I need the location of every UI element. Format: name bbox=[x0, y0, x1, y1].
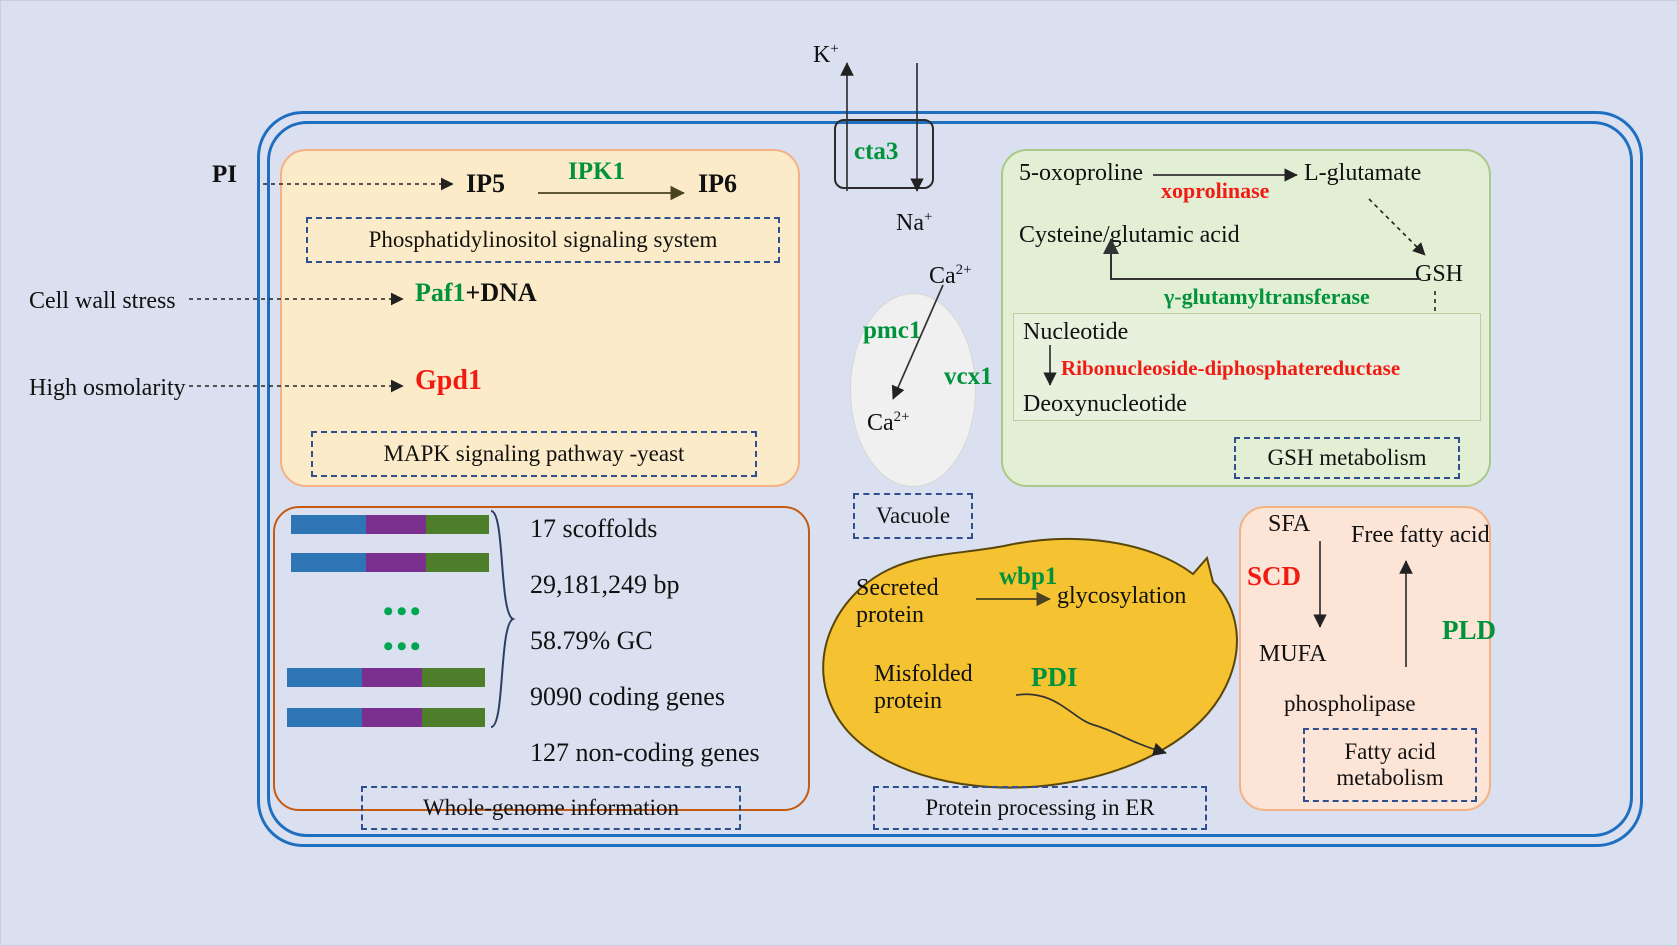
er-secreted-protein-label: Secreted protein bbox=[856, 575, 939, 630]
genome-brace bbox=[489, 509, 519, 731]
metabolite-ip6: IP6 bbox=[698, 169, 737, 199]
enzyme-ipk1: IPK1 bbox=[568, 158, 625, 186]
gene-gpd1: Gpd1 bbox=[415, 365, 482, 397]
target-paf1-dna: Paf1+DNA bbox=[415, 278, 537, 308]
caption-phosphatidylinositol-signaling: Phosphatidylinositol signaling system bbox=[306, 217, 780, 263]
ion-label-sodium: Na+ bbox=[896, 209, 932, 237]
gene-wbp1: wbp1 bbox=[999, 563, 1057, 591]
secreted-protein-line2: protein bbox=[856, 602, 924, 628]
nucleotide-reduction-arrow bbox=[1041, 345, 1061, 397]
ipk1-reaction-arrow bbox=[538, 187, 698, 203]
metabolite-nucleotide: Nucleotide bbox=[1023, 319, 1128, 346]
metabolite-phospholipase: phospholipase bbox=[1284, 691, 1416, 717]
calcium-inside-symbol: Ca bbox=[867, 410, 894, 436]
scd-reaction-arrow bbox=[1313, 541, 1329, 641]
metabolite-ip5: IP5 bbox=[466, 169, 505, 199]
enzyme-ribonucleoside-reductase: Ribonucleoside-diphosphatereductase bbox=[1061, 356, 1400, 381]
chromosome-bar-4 bbox=[287, 708, 485, 727]
genome-stat-scaffolds: 17 scoffolds bbox=[530, 514, 657, 544]
fatty-acid-caption-line1: Fatty acid bbox=[1344, 739, 1435, 765]
caption-vacuole: Vacuole bbox=[853, 493, 973, 539]
caption-mapk-signaling: MAPK signaling pathway -yeast bbox=[311, 431, 757, 477]
figure-canvas: K+ Na+ cta3 PI Cell wall stress High osm… bbox=[0, 0, 1678, 946]
caption-whole-genome-information: Whole-genome information bbox=[361, 786, 741, 830]
calcium-inside-charge: 2+ bbox=[894, 409, 910, 425]
gene-paf1: Paf1 bbox=[415, 278, 466, 307]
calcium-outside-charge: 2+ bbox=[956, 262, 972, 278]
metabolite-sfa: SFA bbox=[1268, 511, 1310, 538]
metabolite-mufa: MUFA bbox=[1259, 641, 1327, 668]
sodium-symbol: Na bbox=[896, 210, 924, 236]
calcium-inside-label: Ca2+ bbox=[867, 409, 910, 437]
chromosome-bar-2 bbox=[291, 553, 489, 572]
chromosome-ellipsis-2: ••• bbox=[383, 632, 424, 662]
misfolded-protein-line1: Misfolded bbox=[874, 661, 973, 687]
genome-stat-basepairs: 29,181,249 bp bbox=[530, 570, 680, 600]
potassium-charge: + bbox=[830, 41, 838, 57]
gene-pdi: PDI bbox=[1031, 662, 1078, 693]
genome-stat-noncoding-genes: 127 non-coding genes bbox=[530, 738, 760, 768]
metabolite-free-fatty-acid: Free fatty acid bbox=[1351, 522, 1490, 549]
ion-label-potassium: K+ bbox=[813, 41, 839, 69]
paf1-dna-suffix: +DNA bbox=[466, 278, 537, 307]
fatty-acid-caption-line2: metabolism bbox=[1336, 765, 1443, 791]
chromosome-bar-3 bbox=[287, 668, 485, 687]
sodium-charge: + bbox=[924, 209, 932, 225]
enzyme-scd: SCD bbox=[1247, 561, 1301, 592]
genome-stat-gc: 58.79% GC bbox=[530, 626, 653, 656]
gene-cta3-label: cta3 bbox=[854, 138, 898, 166]
er-misfolded-protein-label: Misfolded protein bbox=[874, 661, 973, 716]
er-glycosylation-label: glycosylation bbox=[1057, 583, 1186, 610]
genome-stat-coding-genes: 9090 coding genes bbox=[530, 682, 725, 712]
secreted-protein-line1: Secreted bbox=[856, 575, 939, 601]
potassium-symbol: K bbox=[813, 42, 830, 68]
gene-pld: PLD bbox=[1442, 615, 1496, 646]
wbp1-reaction-arrow bbox=[976, 593, 1066, 609]
calcium-influx-arrow bbox=[881, 281, 961, 411]
caption-gsh-metabolism: GSH metabolism bbox=[1234, 437, 1460, 479]
pld-reaction-arrow bbox=[1399, 557, 1415, 677]
chromosome-bar-1 bbox=[291, 515, 489, 534]
pdi-folding-curve bbox=[1016, 691, 1196, 761]
misfolded-protein-line2: protein bbox=[874, 688, 942, 714]
chromosome-ellipsis-1: ••• bbox=[383, 597, 424, 627]
caption-fatty-acid-metabolism: Fatty acid metabolism bbox=[1303, 728, 1477, 802]
caption-protein-processing-er: Protein processing in ER bbox=[873, 786, 1207, 830]
